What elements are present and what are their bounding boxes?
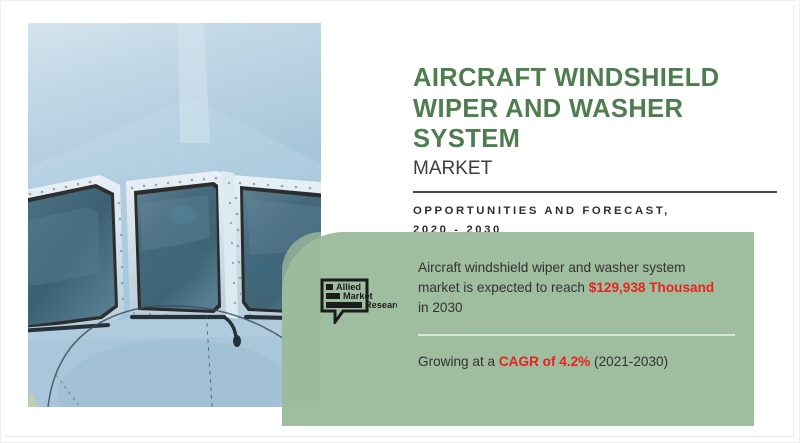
infographic-canvas: AIRCRAFT WINDSHIELD WIPER AND WASHER SYS…	[0, 0, 800, 443]
title-line-1: AIRCRAFT WINDSHIELD	[413, 63, 781, 94]
page-title: AIRCRAFT WINDSHIELD WIPER AND WASHER SYS…	[413, 63, 781, 181]
cagr-value: CAGR of 4.2%	[499, 354, 590, 369]
stat-value: $129,938 Thousand	[589, 280, 714, 295]
cagr-statement: Growing at a CAGR of 4.2% (2021-2030)	[418, 352, 724, 372]
logo-text-research: Research	[365, 300, 397, 310]
cagr-suffix: (2021-2030)	[590, 354, 668, 369]
title-line-2: WIPER AND WASHER	[413, 94, 781, 125]
stat-suffix: in 2030	[418, 300, 463, 315]
title-subtitle: MARKET	[413, 157, 781, 181]
aircraft-photo-illustration	[28, 23, 321, 407]
panel-divider	[418, 334, 735, 336]
left-windshield	[28, 175, 124, 341]
center-windshield	[126, 171, 229, 323]
title-divider	[413, 191, 777, 193]
frame-right-line	[793, 5, 794, 437]
logo-icon: Allied Market Research	[319, 278, 397, 324]
frame-bottom-line	[5, 436, 795, 437]
allied-market-research-logo: Allied Market Research	[319, 278, 397, 324]
title-line-3: SYSTEM	[413, 124, 781, 155]
market-value-statement: Aircraft windshield wiper and washer sys…	[418, 258, 724, 318]
forecast-line-1: OPPORTUNITIES AND FORECAST,	[413, 202, 785, 221]
cagr-prefix: Growing at a	[418, 354, 499, 369]
aircraft-cockpit-photo	[28, 23, 321, 407]
